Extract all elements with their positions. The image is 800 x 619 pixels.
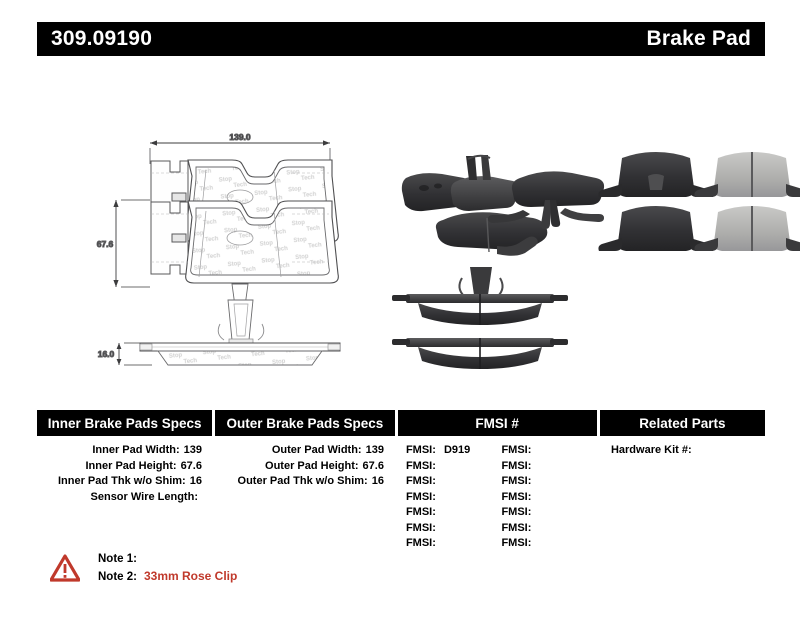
fmsi-row: FMSI: bbox=[406, 521, 502, 537]
spec-table: Inner Brake Pads Specs Outer Brake Pads … bbox=[37, 410, 765, 540]
column-header-outer-specs: Outer Brake Pads Specs bbox=[215, 410, 394, 436]
spec-row: Outer Pad Height: 67.6 bbox=[215, 459, 394, 475]
fmsi-value bbox=[531, 475, 536, 487]
note-label: Note 2: bbox=[98, 569, 137, 586]
fmsi-row: FMSI: bbox=[406, 459, 502, 475]
fmsi-label: FMSI: bbox=[406, 444, 436, 456]
spec-row: Inner Pad Thk w/o Shim: 16 bbox=[37, 474, 212, 490]
fmsi-label: FMSI: bbox=[501, 537, 531, 549]
fmsi-value bbox=[436, 491, 441, 503]
spec-label: Inner Pad Height: bbox=[86, 459, 177, 475]
table-body-row: Inner Pad Width: 139 Inner Pad Height: 6… bbox=[37, 443, 765, 552]
fmsi-value bbox=[531, 460, 536, 472]
fmsi-label: FMSI: bbox=[406, 460, 436, 472]
fmsi-label: FMSI: bbox=[501, 491, 531, 503]
spec-value bbox=[198, 490, 202, 506]
fmsi-label: FMSI: bbox=[406, 506, 436, 518]
spec-label: Inner Pad Thk w/o Shim: bbox=[58, 474, 186, 490]
spec-row: Inner Pad Height: 67.6 bbox=[37, 459, 212, 475]
fmsi-row: FMSI: bbox=[406, 536, 502, 552]
note-row: Note 2: 33mm Rose Clip bbox=[98, 568, 237, 586]
product-photo-pad-grid bbox=[598, 152, 800, 251]
fmsi-value bbox=[531, 491, 536, 503]
fmsi-value: D919 bbox=[439, 444, 470, 456]
column-header-fmsi: FMSI # bbox=[398, 410, 597, 436]
column-header-related-parts: Related Parts bbox=[600, 410, 765, 436]
fmsi-label: FMSI: bbox=[406, 537, 436, 549]
fmsi-value bbox=[531, 444, 536, 456]
hardware-kit-label: Hardware Kit #: bbox=[611, 444, 692, 456]
fmsi-value bbox=[436, 506, 441, 518]
dimension-width-label: 139.0 bbox=[229, 132, 251, 142]
outer-specs-cell: Outer Pad Width: 139 Outer Pad Height: 6… bbox=[215, 443, 394, 552]
fmsi-row: FMSI: bbox=[501, 505, 597, 521]
notes-section: Note 1: Note 2: 33mm Rose Clip bbox=[50, 551, 237, 586]
spec-row: Inner Pad Width: 139 bbox=[37, 443, 212, 459]
pad-second-view: 67.6 bbox=[97, 200, 339, 306]
spec-value: 16 bbox=[368, 474, 384, 490]
fmsi-row: FMSI: bbox=[501, 521, 597, 537]
fmsi-value bbox=[436, 475, 441, 487]
spec-value: 67.6 bbox=[359, 459, 384, 475]
product-photo-edge-pair bbox=[392, 267, 568, 369]
spec-label: Sensor Wire Length: bbox=[91, 490, 198, 506]
fmsi-value bbox=[531, 522, 536, 534]
product-photo-angled bbox=[402, 155, 604, 256]
fmsi-label: FMSI: bbox=[501, 475, 531, 487]
fmsi-row: FMSI: bbox=[501, 443, 597, 459]
fmsi-value bbox=[436, 522, 441, 534]
note-label: Note 1: bbox=[98, 551, 137, 568]
fmsi-value bbox=[436, 537, 441, 549]
fmsi-row: FMSI: D919 bbox=[406, 443, 502, 459]
spec-row: Sensor Wire Length: bbox=[37, 490, 212, 506]
fmsi-value bbox=[436, 460, 441, 472]
fmsi-row: FMSI: bbox=[501, 536, 597, 552]
fmsi-row: FMSI: bbox=[501, 459, 597, 475]
fmsi-cell: FMSI: D919 FMSI: FMSI: FMSI: bbox=[397, 443, 597, 552]
note-row: Note 1: bbox=[98, 551, 237, 568]
spec-label: Outer Pad Height: bbox=[265, 459, 359, 475]
fmsi-label: FMSI: bbox=[501, 506, 531, 518]
related-parts-row: Hardware Kit #: bbox=[600, 443, 765, 459]
title-bar: 309.09190 Brake Pad bbox=[37, 22, 765, 56]
fmsi-column-2: FMSI: FMSI: FMSI: FMSI: bbox=[501, 443, 597, 552]
spec-value: 67.6 bbox=[177, 459, 202, 475]
spec-label: Outer Pad Width: bbox=[272, 443, 362, 459]
part-number: 309.09190 bbox=[51, 27, 152, 51]
wear-sensor-clip bbox=[218, 300, 264, 344]
note-value: 33mm Rose Clip bbox=[137, 568, 237, 585]
spec-label: Outer Pad Thk w/o Shim: bbox=[238, 474, 368, 490]
related-parts-cell: Hardware Kit #: bbox=[600, 443, 765, 552]
fmsi-label: FMSI: bbox=[406, 491, 436, 503]
drawing-stage: Stop Tech 139.0 bbox=[0, 60, 800, 390]
fmsi-row: FMSI: bbox=[406, 490, 502, 506]
spec-value: 16 bbox=[186, 474, 202, 490]
spec-label: Inner Pad Width: bbox=[92, 443, 179, 459]
fmsi-column-1: FMSI: D919 FMSI: FMSI: FMSI: bbox=[406, 443, 502, 552]
pad-edge-view: 16.0 bbox=[98, 300, 340, 365]
column-header-inner-specs: Inner Brake Pads Specs bbox=[37, 410, 212, 436]
fmsi-row: FMSI: bbox=[501, 474, 597, 490]
fmsi-label: FMSI: bbox=[501, 460, 531, 472]
fmsi-label: FMSI: bbox=[406, 522, 436, 534]
fmsi-label: FMSI: bbox=[406, 475, 436, 487]
fmsi-label: FMSI: bbox=[501, 444, 531, 456]
fmsi-row: FMSI: bbox=[406, 474, 502, 490]
fmsi-value bbox=[531, 506, 536, 518]
note-list: Note 1: Note 2: 33mm Rose Clip bbox=[98, 551, 237, 586]
warning-triangle-icon bbox=[50, 554, 80, 582]
fmsi-value bbox=[531, 537, 536, 549]
dimension-height bbox=[113, 200, 150, 287]
fmsi-label: FMSI: bbox=[501, 522, 531, 534]
dimension-thickness-label: 16.0 bbox=[98, 349, 115, 359]
fmsi-row: FMSI: bbox=[406, 505, 502, 521]
spec-value: 139 bbox=[362, 443, 384, 459]
spec-value: 139 bbox=[180, 443, 202, 459]
dimension-height-label: 67.6 bbox=[97, 239, 114, 249]
fmsi-row: FMSI: bbox=[501, 490, 597, 506]
spec-row: Outer Pad Width: 139 bbox=[215, 443, 394, 459]
table-header-row: Inner Brake Pads Specs Outer Brake Pads … bbox=[37, 410, 765, 436]
spec-row: Outer Pad Thk w/o Shim: 16 bbox=[215, 474, 394, 490]
product-type: Brake Pad bbox=[646, 27, 751, 51]
inner-specs-cell: Inner Pad Width: 139 Inner Pad Height: 6… bbox=[37, 443, 212, 552]
